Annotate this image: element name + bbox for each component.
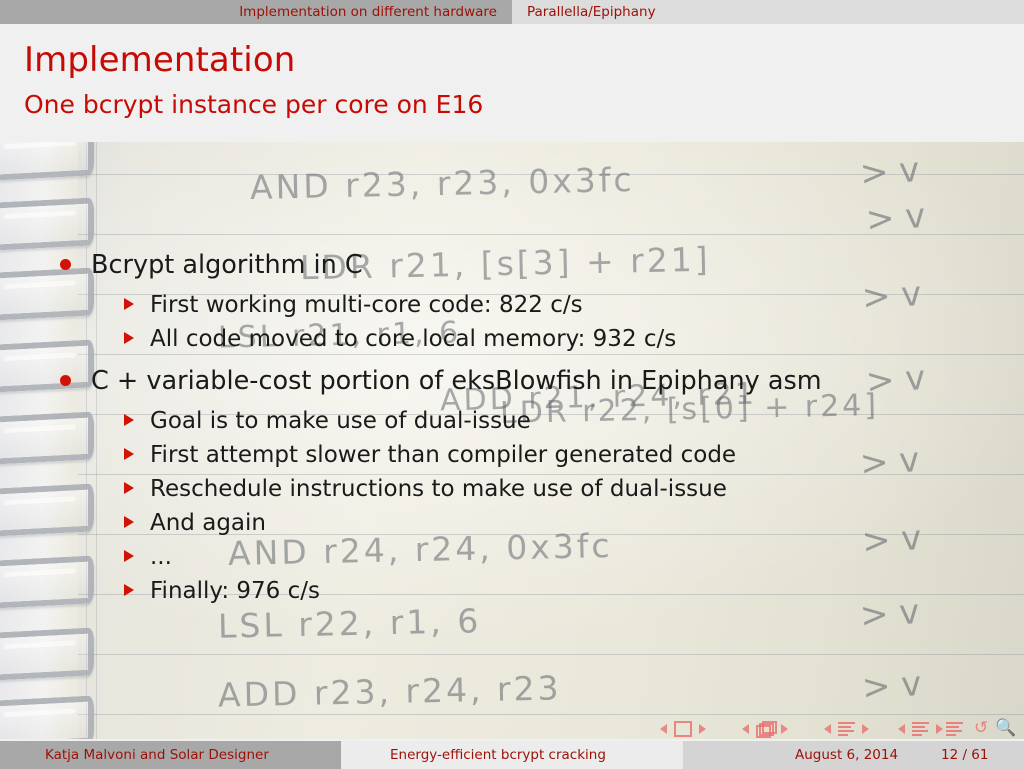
list-item: And again [124, 510, 266, 536]
list-item: Reschedule instructions to make use of d… [124, 476, 727, 502]
headline-section-label[interactable]: Implementation on different hardware [239, 0, 497, 24]
list-item: C + variable-cost portion of eksBlowfish… [60, 366, 822, 396]
slide-content: Bcrypt algorithm in C First working mult… [0, 142, 1024, 739]
next-section-icon[interactable] [936, 724, 943, 734]
footline-page-number: 12 / 61 [941, 741, 989, 769]
next-subsection-icon[interactable] [862, 724, 869, 734]
list-item-label: Reschedule instructions to make use of d… [150, 476, 727, 502]
list-item: Bcrypt algorithm in C [60, 250, 363, 280]
list-item-label: First attempt slower than compiler gener… [150, 442, 736, 468]
list-item: Finally: 976 c/s [124, 578, 320, 604]
prev-slide-icon[interactable] [742, 724, 749, 734]
list-item-label: First working multi-core code: 822 c/s [150, 292, 583, 318]
headline-subsection-label[interactable]: Parallella/Epiphany [527, 0, 656, 24]
prev-subsection-icon[interactable] [824, 724, 831, 734]
page-subtitle: One bcrypt instance per core on E16 [24, 90, 483, 119]
bullet-triangle-icon [124, 332, 134, 344]
next-slide-icon[interactable] [781, 724, 788, 734]
list-item: First working multi-core code: 822 c/s [124, 292, 583, 318]
bullet-disc-icon [60, 375, 71, 386]
list-item-label: All code moved to core local memory: 932… [150, 326, 676, 352]
frame-title-block: Implementation One bcrypt instance per c… [0, 24, 1024, 142]
list-item-label: ... [150, 544, 172, 570]
footline-author: Katja Malvoni and Solar Designer [45, 741, 269, 769]
list-item-label: Bcrypt algorithm in C [91, 250, 363, 280]
presentation-slide: Implementation on different hardware Par… [0, 0, 1024, 769]
page-title: Implementation [24, 40, 295, 80]
next-frame-icon[interactable] [699, 724, 706, 734]
list-item-label: And again [150, 510, 266, 536]
bullet-triangle-icon [124, 298, 134, 310]
section-navigation[interactable] [898, 716, 943, 741]
bullet-triangle-icon [124, 414, 134, 426]
lines-icon[interactable] [838, 722, 855, 736]
list-item-label: Goal is to make use of dual-issue [150, 408, 531, 434]
list-item-label: C + variable-cost portion of eksBlowfish… [91, 366, 822, 396]
bullet-triangle-icon [124, 448, 134, 460]
bullet-triangle-icon [124, 550, 134, 562]
document-navigation[interactable] [946, 716, 963, 741]
prev-section-icon[interactable] [898, 724, 905, 734]
bullet-triangle-icon [124, 482, 134, 494]
lines-icon[interactable] [946, 722, 963, 736]
prev-frame-icon[interactable] [660, 724, 667, 734]
footline-title: Energy-efficient bcrypt cracking [390, 741, 606, 769]
frame-navigation[interactable] [660, 716, 706, 741]
back-arrow-icon[interactable]: ↺ [974, 720, 988, 737]
bullet-triangle-icon [124, 516, 134, 528]
list-item-label: Finally: 976 c/s [150, 578, 320, 604]
subsection-navigation[interactable] [824, 716, 869, 741]
list-item: ... [124, 544, 172, 570]
stacked-frames-icon[interactable] [756, 721, 774, 736]
frame-icon[interactable] [674, 721, 692, 737]
footline-date: August 6, 2014 [795, 741, 898, 769]
bullet-triangle-icon [124, 584, 134, 596]
history-navigation[interactable]: ↺ 🔍 ↻ [974, 716, 1024, 741]
headline-bar: Implementation on different hardware Par… [0, 0, 1024, 24]
slide-navigation[interactable] [742, 716, 788, 741]
beamer-mini-navigation: ↺ 🔍 ↻ [0, 716, 1024, 741]
list-item: First attempt slower than compiler gener… [124, 442, 736, 468]
list-item: Goal is to make use of dual-issue [124, 408, 531, 434]
lines-icon[interactable] [912, 722, 929, 736]
search-icon[interactable]: 🔍 [995, 720, 1016, 737]
list-item: All code moved to core local memory: 932… [124, 326, 676, 352]
bullet-disc-icon [60, 259, 71, 270]
footline-bar: Katja Malvoni and Solar Designer Energy-… [0, 741, 1024, 769]
